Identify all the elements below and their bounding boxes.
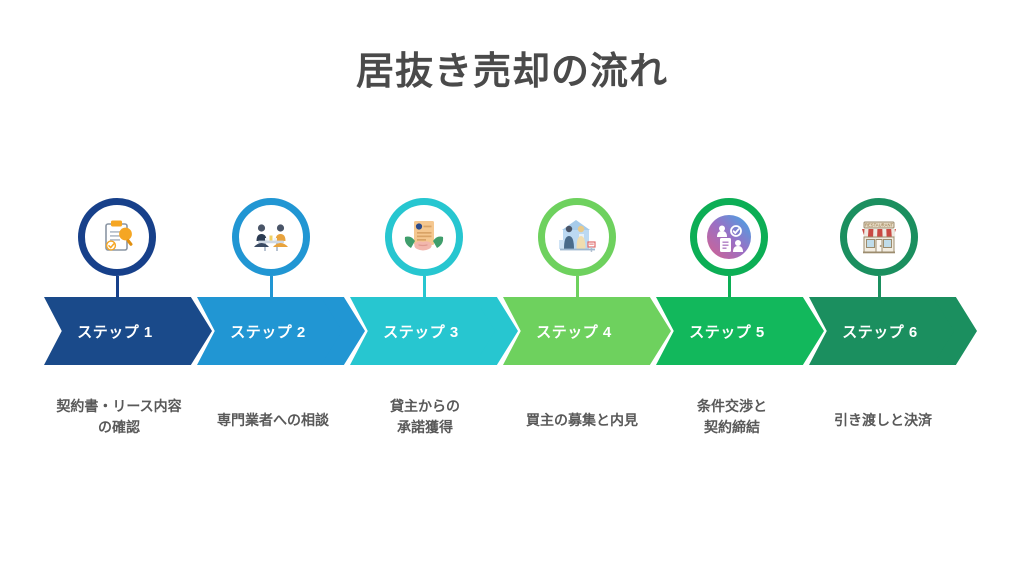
page-title: 居抜き売却の流れ (0, 40, 1024, 95)
storefront-icon: RESTAURANT (855, 213, 903, 261)
step-2-chevron[interactable]: ステップ 2 (197, 297, 345, 365)
step-4-icon-ring (538, 198, 616, 276)
step-3-chevron[interactable]: ステップ 3 (350, 297, 498, 365)
step-4-icon-node[interactable] (538, 198, 616, 276)
step-6-icon-ring: RESTAURANT (840, 198, 918, 276)
process-chevron-bar: ステップ 1 ステップ 2 ステップ 3 ステップ 4 ステップ 5 ステップ … (0, 297, 1024, 365)
step-5-icon-node[interactable] (690, 198, 768, 276)
step-4-label: ステップ 4 (536, 321, 612, 342)
step-6-icon-node[interactable]: RESTAURANT (840, 198, 918, 276)
step-3-label: ステップ 3 (383, 321, 459, 342)
step-5-chevron[interactable]: ステップ 5 (656, 297, 804, 365)
house-viewing-icon (554, 214, 600, 260)
negotiation-contract-icon (705, 213, 753, 261)
step-4-chevron[interactable]: ステップ 4 (503, 297, 651, 365)
step-1-chevron[interactable]: ステップ 1 (44, 297, 192, 365)
clipboard-magnifier-icon (95, 215, 139, 259)
meeting-table-icon (248, 214, 294, 260)
step-1-label: ステップ 1 (77, 321, 153, 342)
step-2-icon-ring (232, 198, 310, 276)
step-6-label: ステップ 6 (842, 321, 918, 342)
step-2-label: ステップ 2 (230, 321, 306, 342)
step-1-icon-node[interactable] (78, 198, 156, 276)
step-3-icon-ring (385, 198, 463, 276)
certificate-handshake-icon (401, 214, 447, 260)
step-6-chevron[interactable]: ステップ 6 (809, 297, 957, 365)
step-2-icon-node[interactable] (232, 198, 310, 276)
svg-text:RESTAURANT: RESTAURANT (865, 223, 894, 228)
step-5-label: ステップ 5 (689, 321, 765, 342)
step-1-icon-ring (78, 198, 156, 276)
step-5-icon-ring (690, 198, 768, 276)
step-3-icon-node[interactable] (385, 198, 463, 276)
icon-row: RESTAURANT (0, 198, 1024, 278)
step-6-caption: 引き渡しと決済 (788, 410, 978, 431)
step-6-caption-line1: 引き渡しと決済 (788, 410, 978, 431)
